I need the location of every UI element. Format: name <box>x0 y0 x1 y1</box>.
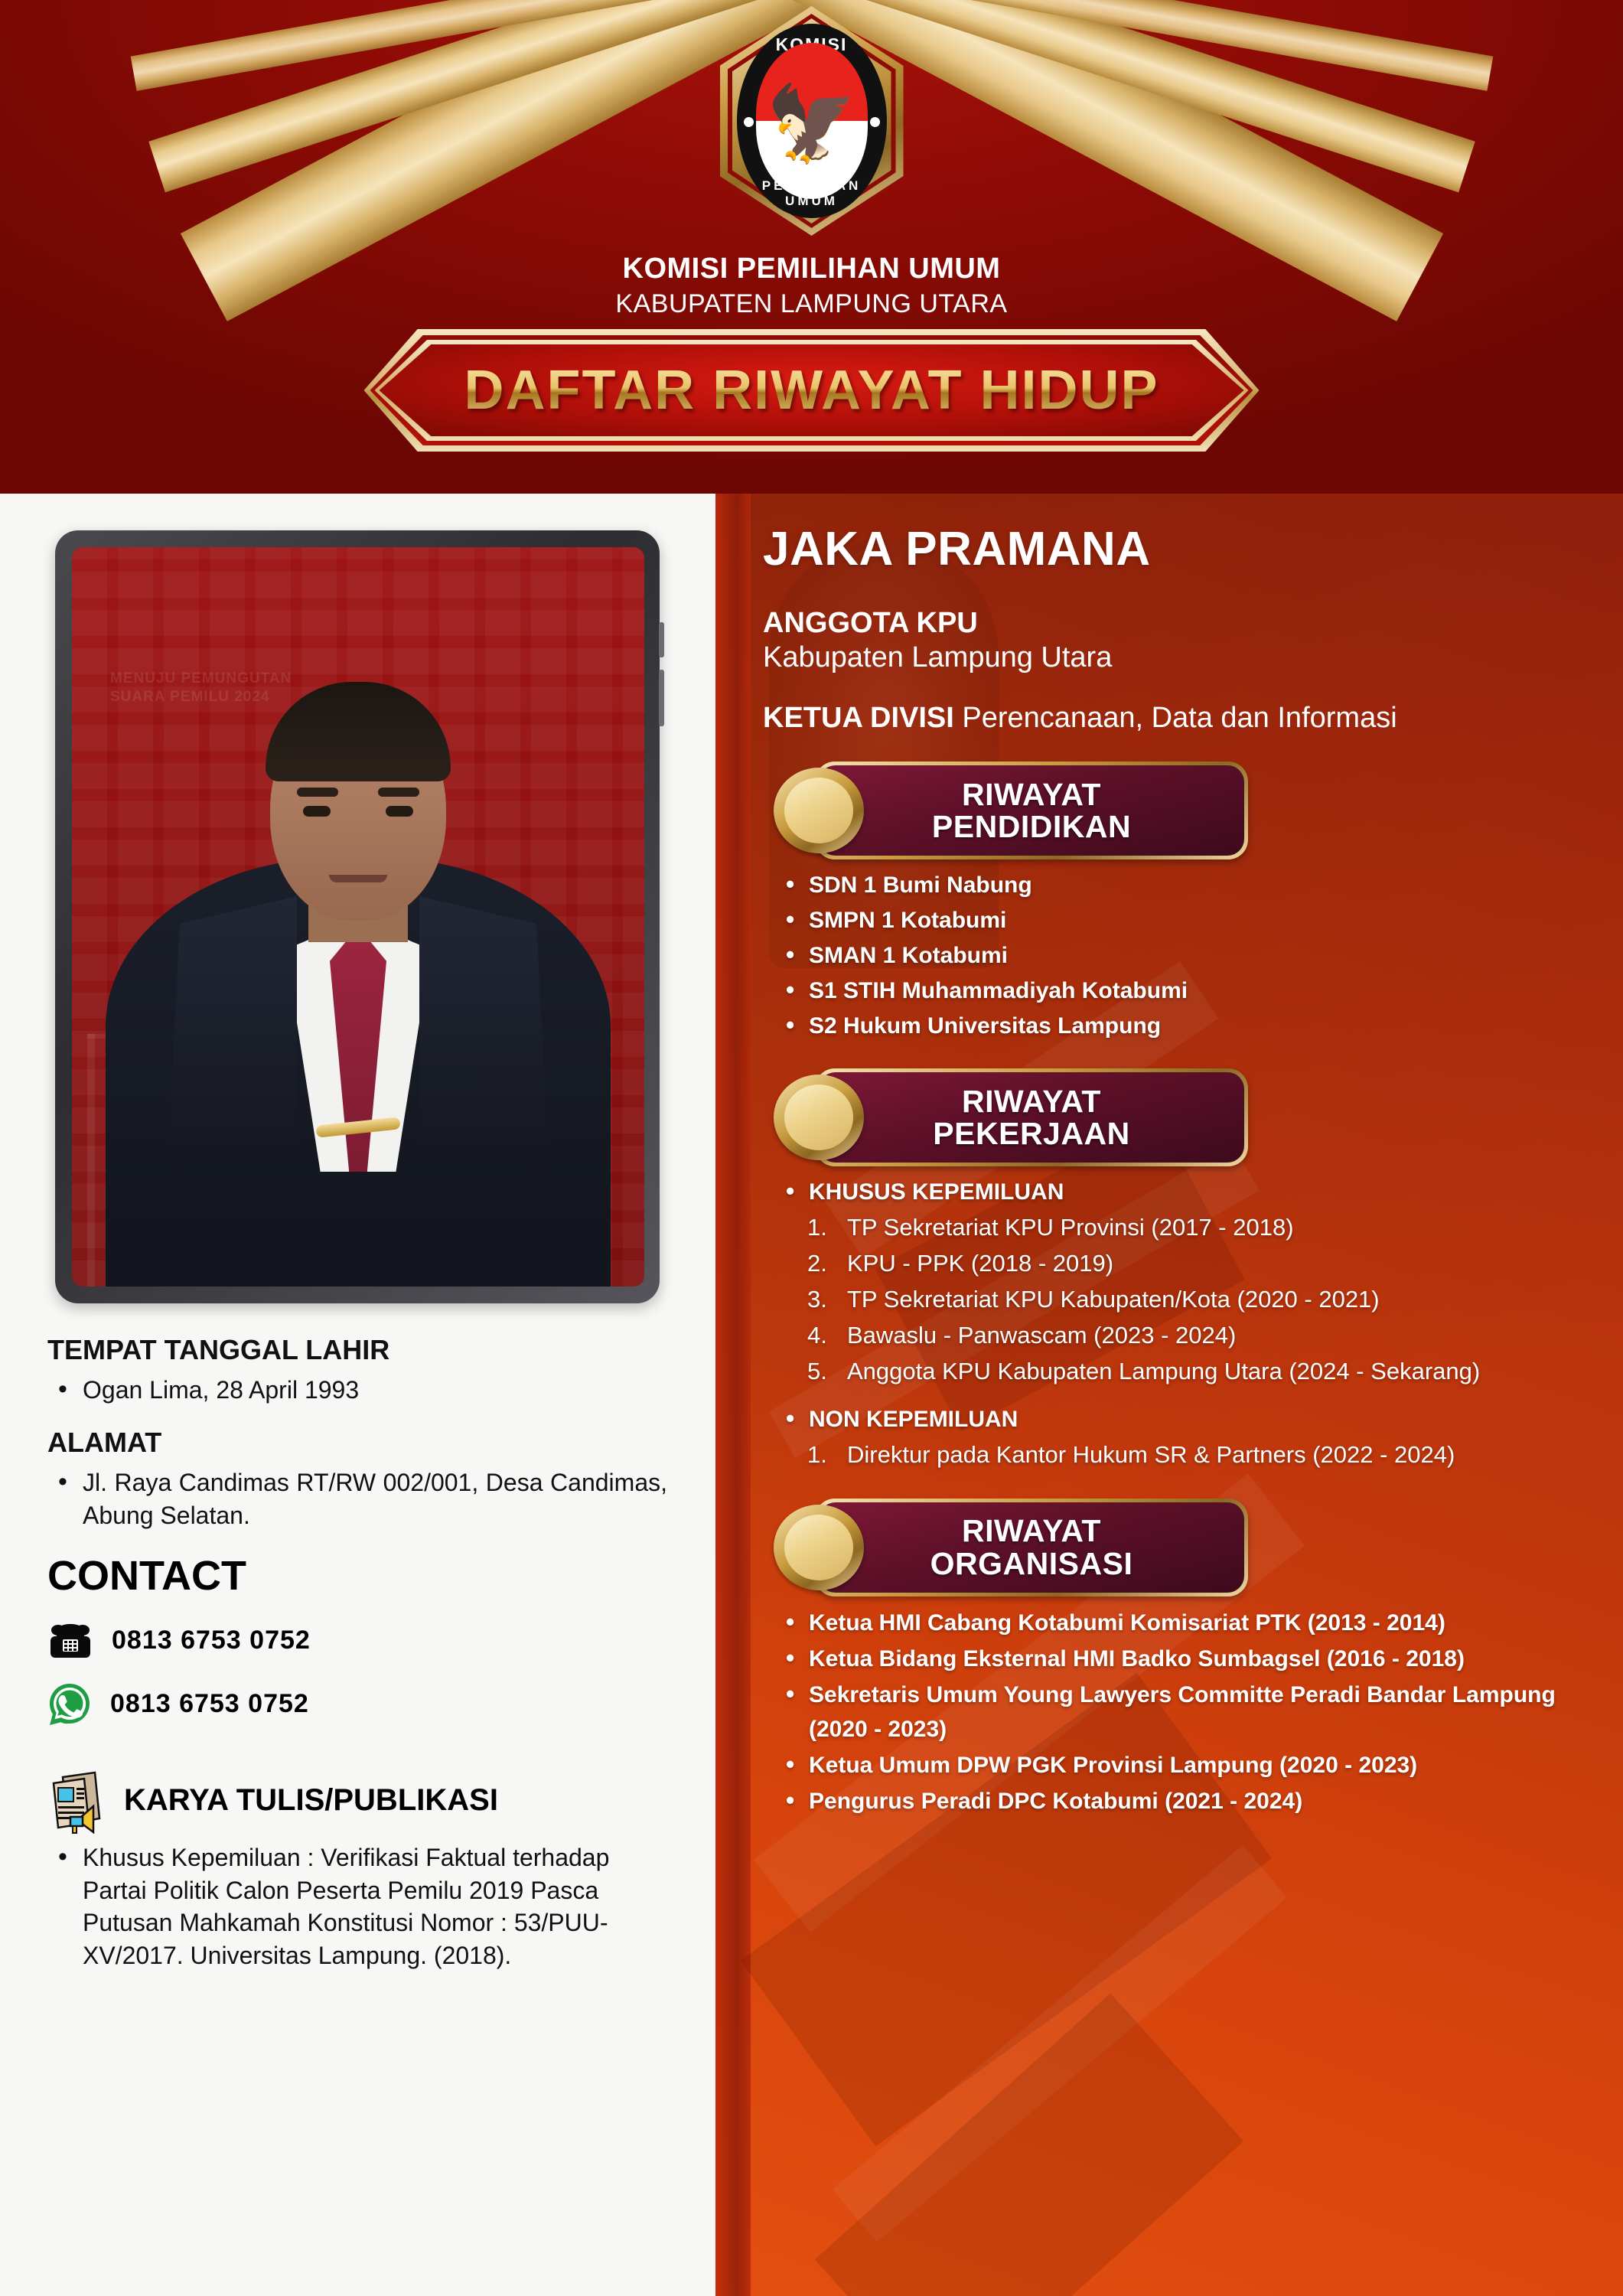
work-group-khusus: KHUSUS KEPEMILUAN <box>775 1176 1588 1209</box>
organization-region: KABUPATEN LAMPUNG UTARA <box>0 289 1623 319</box>
division-title: KETUA DIVISI <box>763 702 954 734</box>
eyebrow-left <box>297 788 338 797</box>
list-item: 5.Anggota KPU Kabupaten Lampung Utara (2… <box>807 1355 1588 1389</box>
birth-block: TEMPAT TANGGAL LAHIR Ogan Lima, 28 April… <box>47 1334 667 1407</box>
list-item: 3.TP Sekretariat KPU Kabupaten/Kota (202… <box>807 1283 1588 1317</box>
eye-right <box>386 806 413 817</box>
item-text: TP Sekretariat KPU Provinsi (2017 - 2018… <box>847 1214 1294 1241</box>
garuda-emblem-icon: 🦅 <box>766 87 858 161</box>
item-text: Anggota KPU Kabupaten Lampung Utara (202… <box>847 1358 1480 1384</box>
list-item: 1.Direktur pada Kantor Hukum SR & Partne… <box>807 1438 1588 1473</box>
left-panel: MENUJU PEMUNGUTAN SUARA PEMILU 2024 <box>0 494 715 2296</box>
portrait-photo: MENUJU PEMUNGUTAN SUARA PEMILU 2024 <box>72 547 644 1287</box>
publication-list: Khusus Kepemiluan : Verifikasi Faktual t… <box>47 1841 667 1973</box>
lapel-left <box>167 896 297 1172</box>
left-details: TEMPAT TANGGAL LAHIR Ogan Lima, 28 April… <box>47 1334 667 1992</box>
publication-heading-row: KARYA TULIS/PUBLIKASI <box>47 1768 667 1834</box>
work-items-non: 1.Direktur pada Kantor Hukum SR & Partne… <box>807 1438 1588 1473</box>
item-number: 2. <box>807 1247 827 1281</box>
list-item: 4.Bawaslu - Panwascam (2023 - 2024) <box>807 1319 1588 1353</box>
title-ribbon: DAFTAR RIWAYAT HIDUP <box>364 329 1260 452</box>
person-name: JAKA PRAMANA <box>763 524 1588 574</box>
item-number: 5. <box>807 1355 827 1389</box>
item-text: KPU - PPK (2018 - 2019) <box>847 1250 1113 1277</box>
badge-ring-icon <box>774 768 864 853</box>
phone-number: 0813 6753 0752 <box>112 1626 311 1655</box>
contact-block: CONTACT <box>47 1552 667 1727</box>
whatsapp-number: 0813 6753 0752 <box>110 1689 309 1719</box>
badge-line-1: RIWAYAT <box>962 1515 1101 1548</box>
list-item: SDN 1 Bumi Nabung <box>775 869 1588 902</box>
cv-poster: KOMISI PEMILIHAN UMUM 🦅 KOMISI PEMILIHAN… <box>0 0 1623 2296</box>
page-title: DAFTAR RIWAYAT HIDUP <box>364 329 1260 452</box>
contact-heading: CONTACT <box>47 1552 667 1600</box>
role-title: ANGGOTA KPU <box>763 606 1588 641</box>
list-item: Sekretaris Umum Young Lawyers Committe P… <box>775 1678 1588 1746</box>
eyebrow-right <box>378 788 419 797</box>
address-list: Jl. Raya Candimas RT/RW 002/001, Desa Ca… <box>47 1466 667 1532</box>
list-item: Khusus Kepemiluan : Verifikasi Faktual t… <box>47 1841 667 1973</box>
list-item: Jl. Raya Candimas RT/RW 002/001, Desa Ca… <box>47 1466 667 1532</box>
badge-line-1: RIWAYAT <box>962 1085 1101 1118</box>
emblem-dot-left-icon <box>744 117 754 127</box>
list-item: S2 Hukum Universitas Lampung <box>775 1009 1588 1043</box>
whatsapp-icon <box>47 1682 92 1727</box>
right-panel: JAKA PRAMANA ANGGOTA KPU Kabupaten Lampu… <box>715 494 1623 2296</box>
badge-organization: RIWAYAT ORGANISASI <box>774 1499 1248 1596</box>
list-item: SMAN 1 Kotabumi <box>775 939 1588 973</box>
badge-pill: RIWAYAT PENDIDIKAN <box>815 762 1248 859</box>
emblem-dot-right-icon <box>870 117 880 127</box>
badge-pill-inner: RIWAYAT PENDIDIKAN <box>819 765 1244 856</box>
publication-heading: KARYA TULIS/PUBLIKASI <box>124 1783 498 1818</box>
eye-left <box>303 806 331 817</box>
backdrop-text-line2: SUARA PEMILU 2024 <box>110 688 292 706</box>
telephone-icon <box>47 1619 93 1662</box>
item-number: 4. <box>807 1319 827 1353</box>
mouth <box>329 875 387 882</box>
badge-line-1: RIWAYAT <box>962 778 1101 811</box>
kpu-logo: KOMISI PEMILIHAN UMUM 🦅 <box>720 6 904 236</box>
birth-heading: TEMPAT TANGGAL LAHIR <box>47 1334 667 1366</box>
group-title: KHUSUS KEPEMILUAN <box>775 1176 1588 1209</box>
backdrop-text: MENUJU PEMUNGUTAN SUARA PEMILU 2024 <box>110 670 292 706</box>
item-text: TP Sekretariat KPU Kabupaten/Kota (2020 … <box>847 1286 1380 1313</box>
indonesia-flag-disc: 🦅 <box>756 43 868 199</box>
badge-pill-inner: RIWAYAT ORGANISASI <box>819 1502 1244 1593</box>
newspaper-megaphone-icon <box>47 1768 113 1834</box>
badge-line-2: PENDIDIKAN <box>932 810 1131 843</box>
list-item: Ketua Umum DPW PGK Provinsi Lampung (202… <box>775 1748 1588 1782</box>
address-block: ALAMAT Jl. Raya Candimas RT/RW 002/001, … <box>47 1427 667 1532</box>
organization-name: KOMISI PEMILIHAN UMUM <box>0 253 1623 285</box>
list-item: S1 STIH Muhammadiyah Kotabumi <box>775 974 1588 1008</box>
list-item: 2.KPU - PPK (2018 - 2019) <box>807 1247 1588 1281</box>
list-item: Pengurus Peradi DPC Kotabumi (2021 - 202… <box>775 1784 1588 1818</box>
badge-ring-icon <box>774 1505 864 1590</box>
poster-header: KOMISI PEMILIHAN UMUM 🦅 KOMISI PEMILIHAN… <box>0 0 1623 494</box>
list-item: Ogan Lima, 28 April 1993 <box>47 1374 667 1407</box>
group-title: NON KEPEMILUAN <box>775 1403 1588 1437</box>
badge-ring-icon <box>774 1075 864 1160</box>
badge-work: RIWAYAT PEKERJAAN <box>774 1068 1248 1166</box>
work-items-khusus: 1.TP Sekretariat KPU Provinsi (2017 - 20… <box>807 1211 1588 1389</box>
education-list: SDN 1 Bumi Nabung SMPN 1 Kotabumi SMAN 1… <box>775 869 1588 1042</box>
role-block: ANGGOTA KPU Kabupaten Lampung Utara <box>763 606 1588 675</box>
division-block: KETUA DIVISI Perencanaan, Data dan Infor… <box>763 701 1588 736</box>
item-number: 1. <box>807 1211 827 1245</box>
contact-row-phone[interactable]: 0813 6753 0752 <box>47 1619 667 1662</box>
list-item: 1.TP Sekretariat KPU Provinsi (2017 - 20… <box>807 1211 1588 1245</box>
work-group-non: NON KEPEMILUAN <box>775 1403 1588 1437</box>
person-figure <box>72 710 644 1287</box>
publication-block: KARYA TULIS/PUBLIKASI Khusus Kepemiluan … <box>47 1768 667 1973</box>
badge-pill: RIWAYAT ORGANISASI <box>815 1499 1248 1596</box>
address-heading: ALAMAT <box>47 1427 667 1459</box>
item-number: 1. <box>807 1438 827 1473</box>
badge-line-2: ORGANISASI <box>930 1548 1133 1580</box>
badge-line-2: PEKERJAAN <box>933 1117 1129 1150</box>
role-region: Kabupaten Lampung Utara <box>763 641 1588 675</box>
tablet-frame: MENUJU PEMUNGUTAN SUARA PEMILU 2024 <box>55 530 660 1303</box>
badge-pill: RIWAYAT PEKERJAAN <box>815 1068 1248 1166</box>
emblem-ring: KOMISI PEMILIHAN UMUM 🦅 <box>737 24 887 218</box>
item-text: Bawaslu - Panwascam (2023 - 2024) <box>847 1322 1236 1349</box>
birth-list: Ogan Lima, 28 April 1993 <box>47 1374 667 1407</box>
organization-list: Ketua HMI Cabang Kotabumi Komisariat PTK… <box>775 1606 1588 1818</box>
list-item: Ketua HMI Cabang Kotabumi Komisariat PTK… <box>775 1606 1588 1640</box>
division-detail: Perencanaan, Data dan Informasi <box>954 702 1397 734</box>
item-number: 3. <box>807 1283 827 1317</box>
backdrop-text-line1: MENUJU PEMUNGUTAN <box>110 670 292 688</box>
list-item: Ketua Bidang Eksternal HMI Badko Sumbags… <box>775 1642 1588 1676</box>
lapel-right <box>419 896 549 1172</box>
item-text: Direktur pada Kantor Hukum SR & Partners… <box>847 1441 1455 1468</box>
list-item: SMPN 1 Kotabumi <box>775 904 1588 938</box>
contact-row-whatsapp[interactable]: 0813 6753 0752 <box>47 1682 667 1727</box>
badge-pill-inner: RIWAYAT PEKERJAAN <box>819 1072 1244 1163</box>
right-content: JAKA PRAMANA ANGGOTA KPU Kabupaten Lampu… <box>715 494 1623 2296</box>
badge-education: RIWAYAT PENDIDIKAN <box>774 762 1248 859</box>
